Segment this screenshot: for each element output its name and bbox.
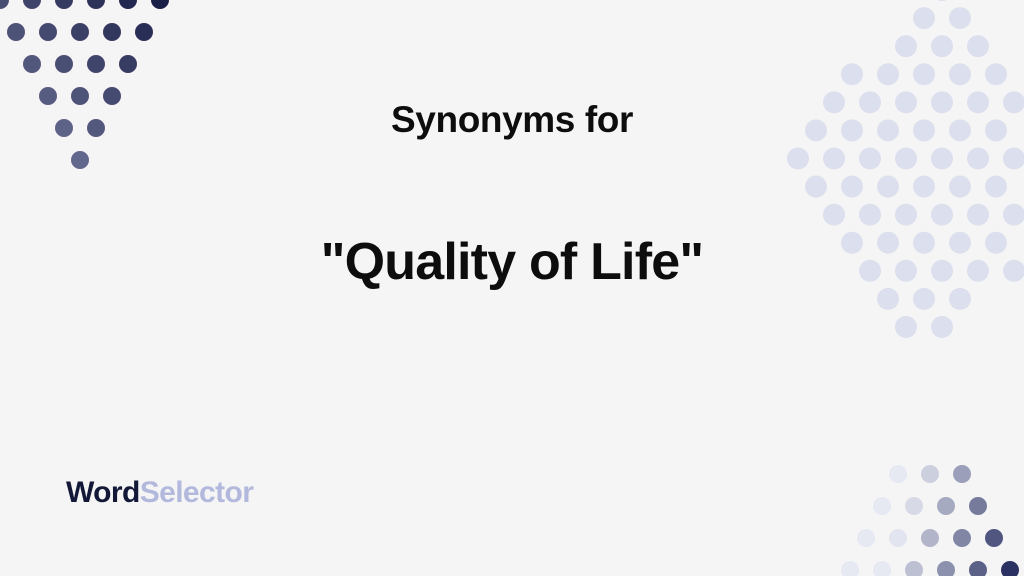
page-title: "Quality of Life" xyxy=(321,141,703,291)
poster-canvas: Synonyms for "Quality of Life" WordSelec… xyxy=(0,0,1024,576)
brand-logo-secondary: Selector xyxy=(140,476,254,509)
brand-logo-primary: Word xyxy=(66,476,140,509)
brand-logo[interactable]: WordSelector xyxy=(66,478,253,508)
headline-block: Synonyms for "Quality of Life" xyxy=(0,0,1024,420)
page-subtitle: Synonyms for xyxy=(391,0,633,141)
